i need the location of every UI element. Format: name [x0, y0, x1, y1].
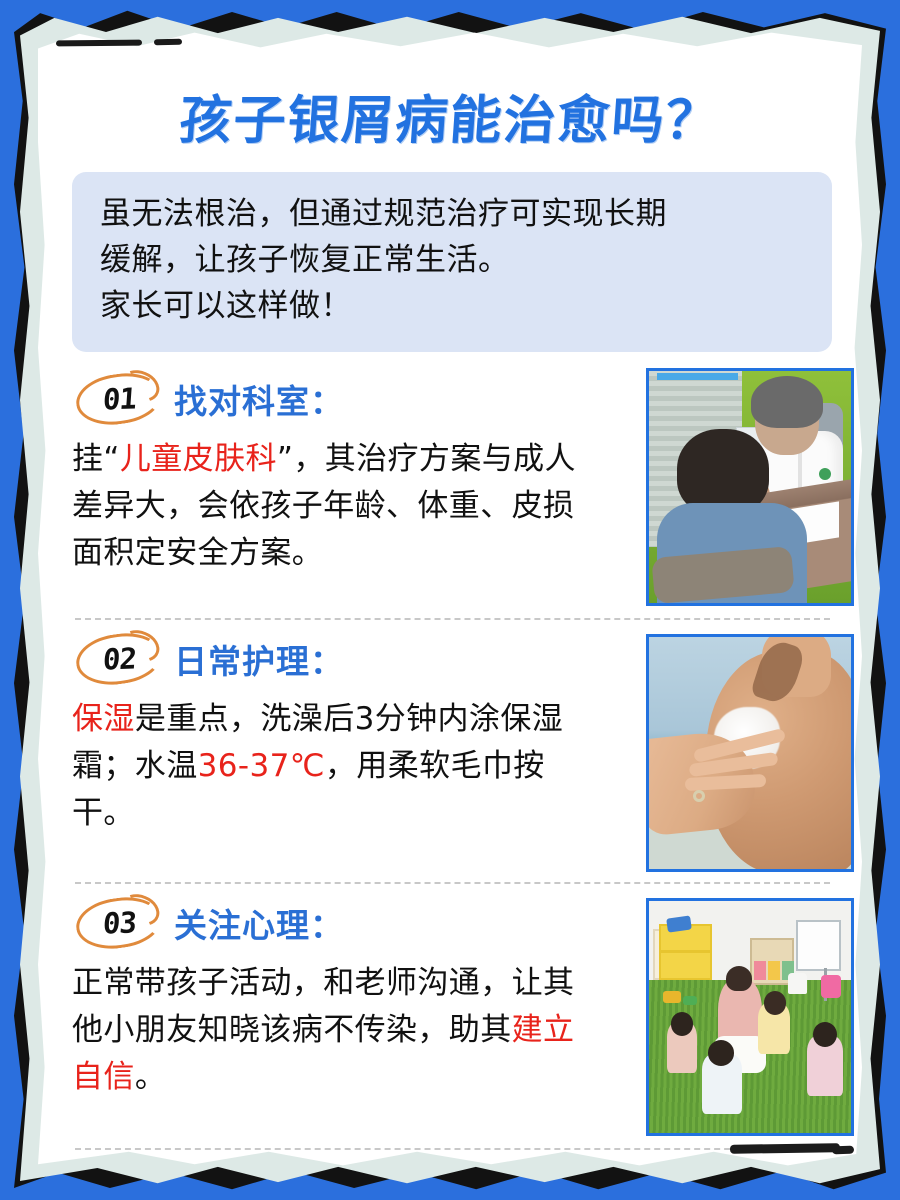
body-text: 正常带孩子活动，和老师沟通，让其他小朋友知晓该病不传染，助其	[72, 965, 574, 1048]
page-title: 孩子银屑病能治愈吗？	[0, 78, 900, 153]
dash-stroke-long	[56, 40, 142, 47]
highlighted-text: 保湿	[72, 701, 135, 737]
intro-line-2: 缓解，让孩子恢复正常生活。	[100, 238, 806, 284]
applying-moisturizer-photo	[646, 634, 854, 872]
step-number-badge-03: 03	[76, 898, 162, 948]
body-text: 。	[135, 1059, 166, 1095]
intro-line-3: 家长可以这样做！	[100, 284, 806, 330]
highlighted-text: 儿童皮肤科	[120, 441, 277, 477]
intro-panel: 虽无法根治，但通过规范治疗可实现长期 缓解，让孩子恢复正常生活。 家长可以这样做…	[72, 172, 832, 352]
section-divider-2	[75, 882, 830, 884]
bottom-rule-thick-stroke	[730, 1143, 840, 1154]
classroom-children-photo	[646, 898, 854, 1136]
clinic-scene	[649, 371, 851, 603]
section-02-body: 保湿是重点，洗澡后3分钟内涂保湿霜；水温36-37℃，用柔软毛巾按干。	[0, 686, 600, 837]
section-02-title: 日常护理：	[174, 635, 344, 683]
step-number-badge-02: 02	[76, 634, 162, 684]
step-number-01: 01	[101, 381, 136, 416]
moisturizer-scene	[649, 637, 851, 869]
step-number-02: 02	[101, 641, 136, 676]
section-divider-1	[75, 618, 830, 620]
section-01-body: 挂“儿童皮肤科”，其治疗方案与成人差异大，会依孩子年龄、体重、皮损面积定安全方案…	[0, 426, 600, 577]
step-number-badge-01: 01	[76, 374, 162, 424]
dash-stroke-short	[154, 39, 182, 46]
intro-line-1: 虽无法根治，但通过规范治疗可实现长期	[100, 192, 806, 238]
highlighted-text: 36-37℃	[198, 748, 325, 784]
poster-root: 孩子银屑病能治愈吗？ 虽无法根治，但通过规范治疗可实现长期 缓解，让孩子恢复正常…	[0, 0, 900, 1200]
section-03-title: 关注心理：	[174, 899, 344, 947]
hand-drawn-dash-mark	[56, 36, 216, 50]
bottom-rule	[75, 1148, 830, 1150]
section-01-title: 找对科室：	[174, 375, 344, 423]
classroom-scene	[649, 901, 851, 1133]
bottom-rule-end-dot	[832, 1146, 854, 1155]
body-text: 挂“	[72, 441, 120, 477]
clinic-consultation-photo	[646, 368, 854, 606]
section-03-body: 正常带孩子活动，和老师沟通，让其他小朋友知晓该病不传染，助其建立自信。	[0, 950, 600, 1101]
step-number-03: 03	[101, 905, 136, 940]
